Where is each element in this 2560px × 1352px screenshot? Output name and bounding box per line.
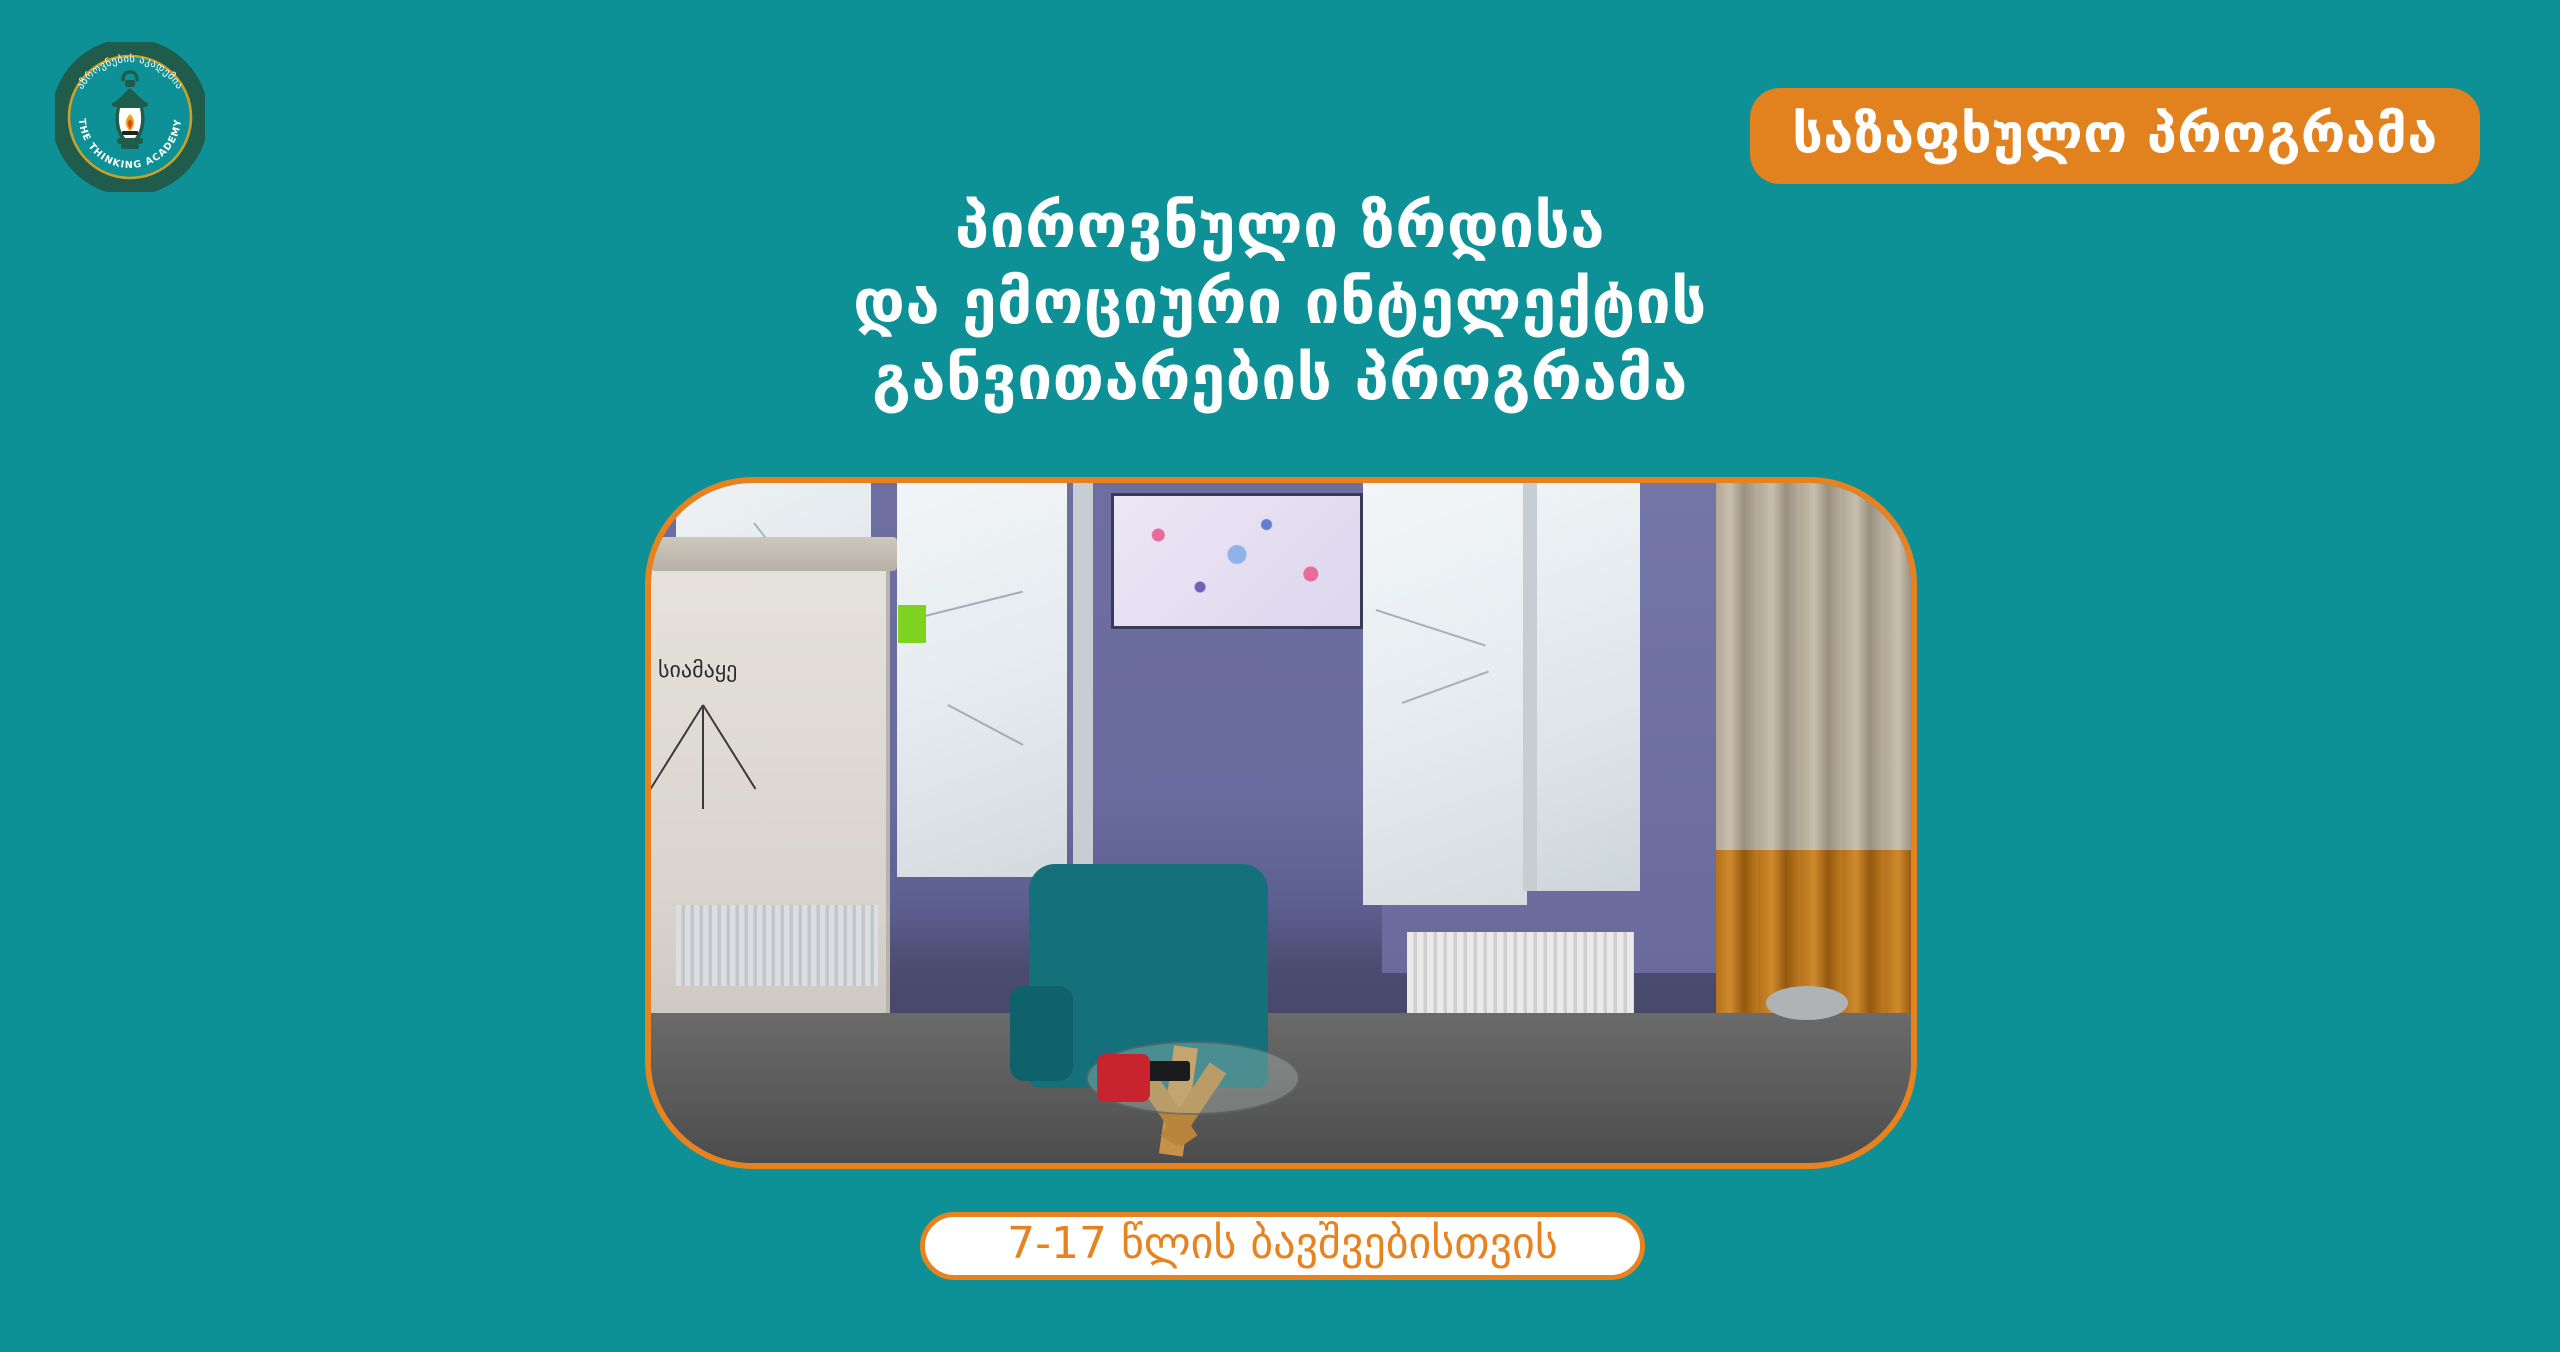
thinking-academy-logo: აზროვნების აკადემია THE THINKING ACADEMY <box>55 42 205 192</box>
whiteboard-text: სიამაყე <box>658 658 737 683</box>
red-bag <box>1097 1054 1150 1102</box>
group-photo-scene: სიამაყე <box>651 483 1911 1163</box>
window-mullion-2 <box>1523 483 1537 891</box>
window-mullion <box>1073 483 1093 891</box>
paper-roll <box>651 537 897 571</box>
title-line-3: განვითარების პროგრამა <box>0 340 2560 416</box>
age-range-label: 7-17 წლის ბავშვებისთვის <box>1007 1222 1558 1266</box>
program-badge-label: საზაფხულო პროგრამა <box>1792 107 2438 161</box>
age-range-pill: 7-17 წლის ბავშვებისთვის <box>920 1212 1645 1280</box>
sticky-note <box>898 605 926 642</box>
window-right-1 <box>1363 483 1527 905</box>
glasses-icon-2 <box>651 483 655 487</box>
window-left-2 <box>897 483 1067 877</box>
group-photo: სიამაყე <box>645 477 1917 1169</box>
title-line-2: და ემოციური ინტელექტის <box>0 264 2560 340</box>
armchair-arm <box>1010 986 1073 1081</box>
radiator-left <box>676 905 878 987</box>
wall-artwork <box>1111 493 1363 629</box>
stool <box>1766 986 1848 1020</box>
title-line-1: პიროვნული ზრდისა <box>0 188 2560 264</box>
window-right-2 <box>1533 483 1640 891</box>
page-title: პიროვნული ზრდისა და ემოციური ინტელექტის … <box>0 188 2560 416</box>
program-badge: საზაფხულო პროგრამა <box>1750 88 2480 184</box>
